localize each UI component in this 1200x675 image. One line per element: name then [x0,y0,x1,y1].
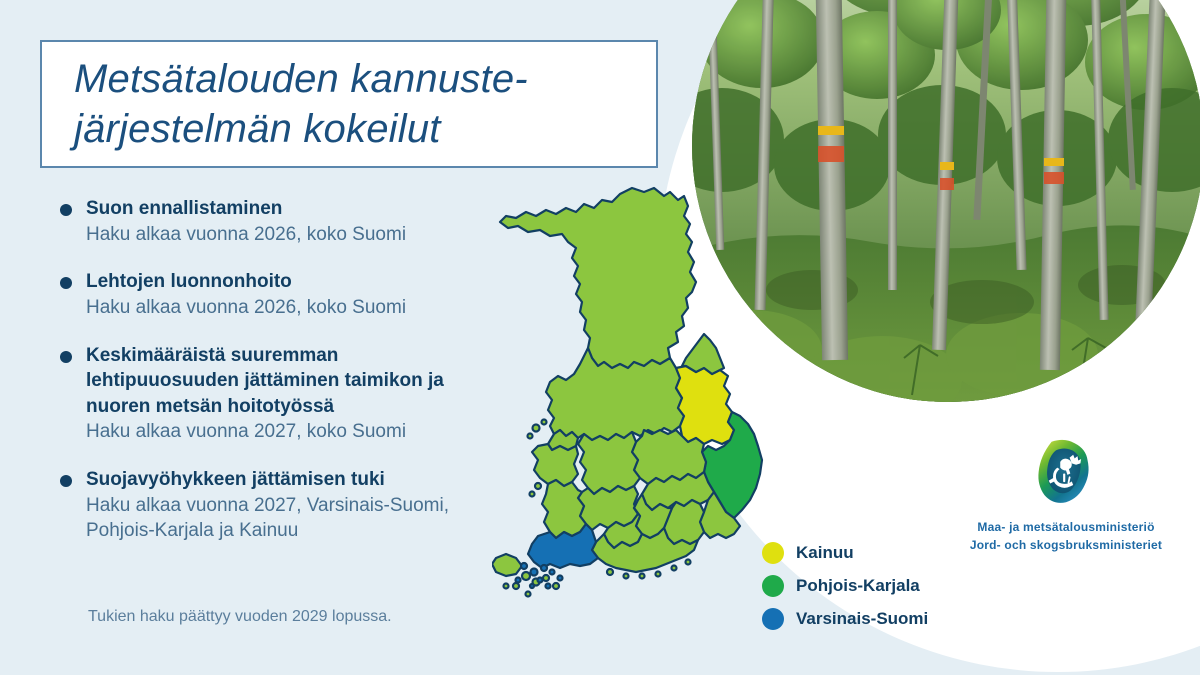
legend-color-swatch-icon [762,542,784,564]
list-item-title: Lehtojen luonnonhoito [86,269,530,295]
list-item-subtitle: Haku alkaa vuonna 2027, Varsinais-Suomi,… [86,493,530,544]
legend-item-varsinais-suomi: Varsinais-Suomi [762,602,928,635]
legend-label: Pohjois-Karjala [796,576,920,596]
legend-color-swatch-icon [762,608,784,630]
ministry-logo-block: Maa- ja metsätalousministeriö Jord- och … [960,436,1172,554]
list-item-subtitle: Haku alkaa vuonna 2027, koko Suomi [86,419,530,445]
legend-label: Kainuu [796,543,854,563]
finnish-coat-of-arms-lion-icon [1030,436,1102,508]
list-item: Suon ennallistaminen Haku alkaa vuonna 2… [60,196,530,247]
finland-map [492,182,782,650]
bullet-dot-icon [60,475,72,487]
map-region-koillismaa [682,334,724,374]
legend-label: Varsinais-Suomi [796,609,928,629]
map-region-satakunta [542,480,586,538]
map-region-kainuu [676,366,734,444]
ministry-name-sv: Jord- och skogsbruksministeriet [960,536,1172,554]
footer-note: Tukien haku päättyy vuoden 2029 lopussa. [88,608,392,626]
list-item-subtitle: Haku alkaa vuonna 2026, koko Suomi [86,222,530,248]
bullet-dot-icon [60,351,72,363]
list-item-title: Suojavyöhykkeen jättämisen tuki [86,467,530,493]
title-box: Metsätalouden kannuste- järjestelmän kok… [40,40,658,168]
bullet-list: Suon ennallistaminen Haku alkaa vuonna 2… [60,196,530,566]
list-item: Suojavyöhykkeen jättämisen tuki Haku alk… [60,467,530,544]
map-region-lappi [500,188,696,368]
list-item-title: Suon ennallistaminen [86,196,530,222]
map-legend: Kainuu Pohjois-Karjala Varsinais-Suomi [762,536,928,635]
ministry-name-fi: Maa- ja metsätalousministeriö [960,518,1172,536]
list-item: Keskimääräistä suuremman lehtipuuosuuden… [60,343,530,446]
list-item-subtitle: Haku alkaa vuonna 2026, koko Suomi [86,295,530,321]
bullet-dot-icon [60,204,72,216]
map-region-keski-suomi [578,432,640,494]
legend-item-pohjois-karjala: Pohjois-Karjala [762,569,928,602]
bullet-dot-icon [60,277,72,289]
list-item: Lehtojen luonnonhoito Haku alkaa vuonna … [60,269,530,320]
legend-item-kainuu: Kainuu [762,536,928,569]
list-item-title: Keskimääräistä suuremman lehtipuuosuuden… [86,343,530,420]
page-title: Metsätalouden kannuste- järjestelmän kok… [42,54,528,154]
legend-color-swatch-icon [762,575,784,597]
map-region-pohjois-savo [632,430,706,484]
